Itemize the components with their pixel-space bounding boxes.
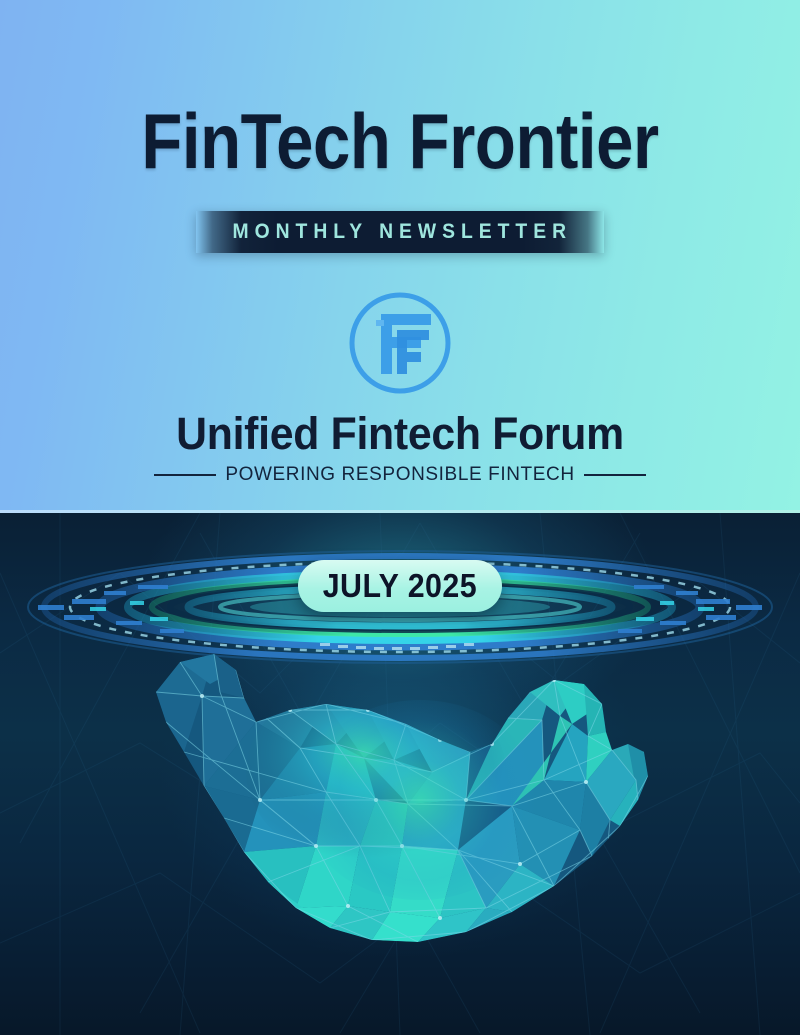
organization-tagline: POWERING RESPONSIBLE FINTECH	[225, 464, 574, 486]
brand-block: Unified Fintech Forum POWERING RESPONSIB…	[0, 410, 800, 486]
tagline-rule-right	[584, 474, 646, 476]
issue-date-label: JULY 2025	[323, 567, 477, 605]
issue-date-badge: JULY 2025	[298, 560, 502, 612]
organization-name: Unified Fintech Forum	[20, 410, 780, 457]
masthead: FinTech Frontier	[0, 104, 800, 178]
newsletter-title: FinTech Frontier	[56, 104, 744, 178]
newsletter-type-banner: MONTHLY NEWSLETTER	[196, 211, 604, 253]
cover-top-panel: FinTech Frontier MONTHLY NEWSLETTER	[0, 0, 800, 513]
low-poly-open-hand-icon	[140, 640, 660, 970]
tagline-rule-left	[154, 474, 216, 476]
newsletter-type-label: MONTHLY NEWSLETTER	[227, 220, 572, 244]
unified-fintech-forum-f-monogram-icon	[347, 290, 453, 396]
tagline-row: POWERING RESPONSIBLE FINTECH	[0, 464, 800, 486]
newsletter-cover: FinTech Frontier MONTHLY NEWSLETTER	[0, 0, 800, 1035]
